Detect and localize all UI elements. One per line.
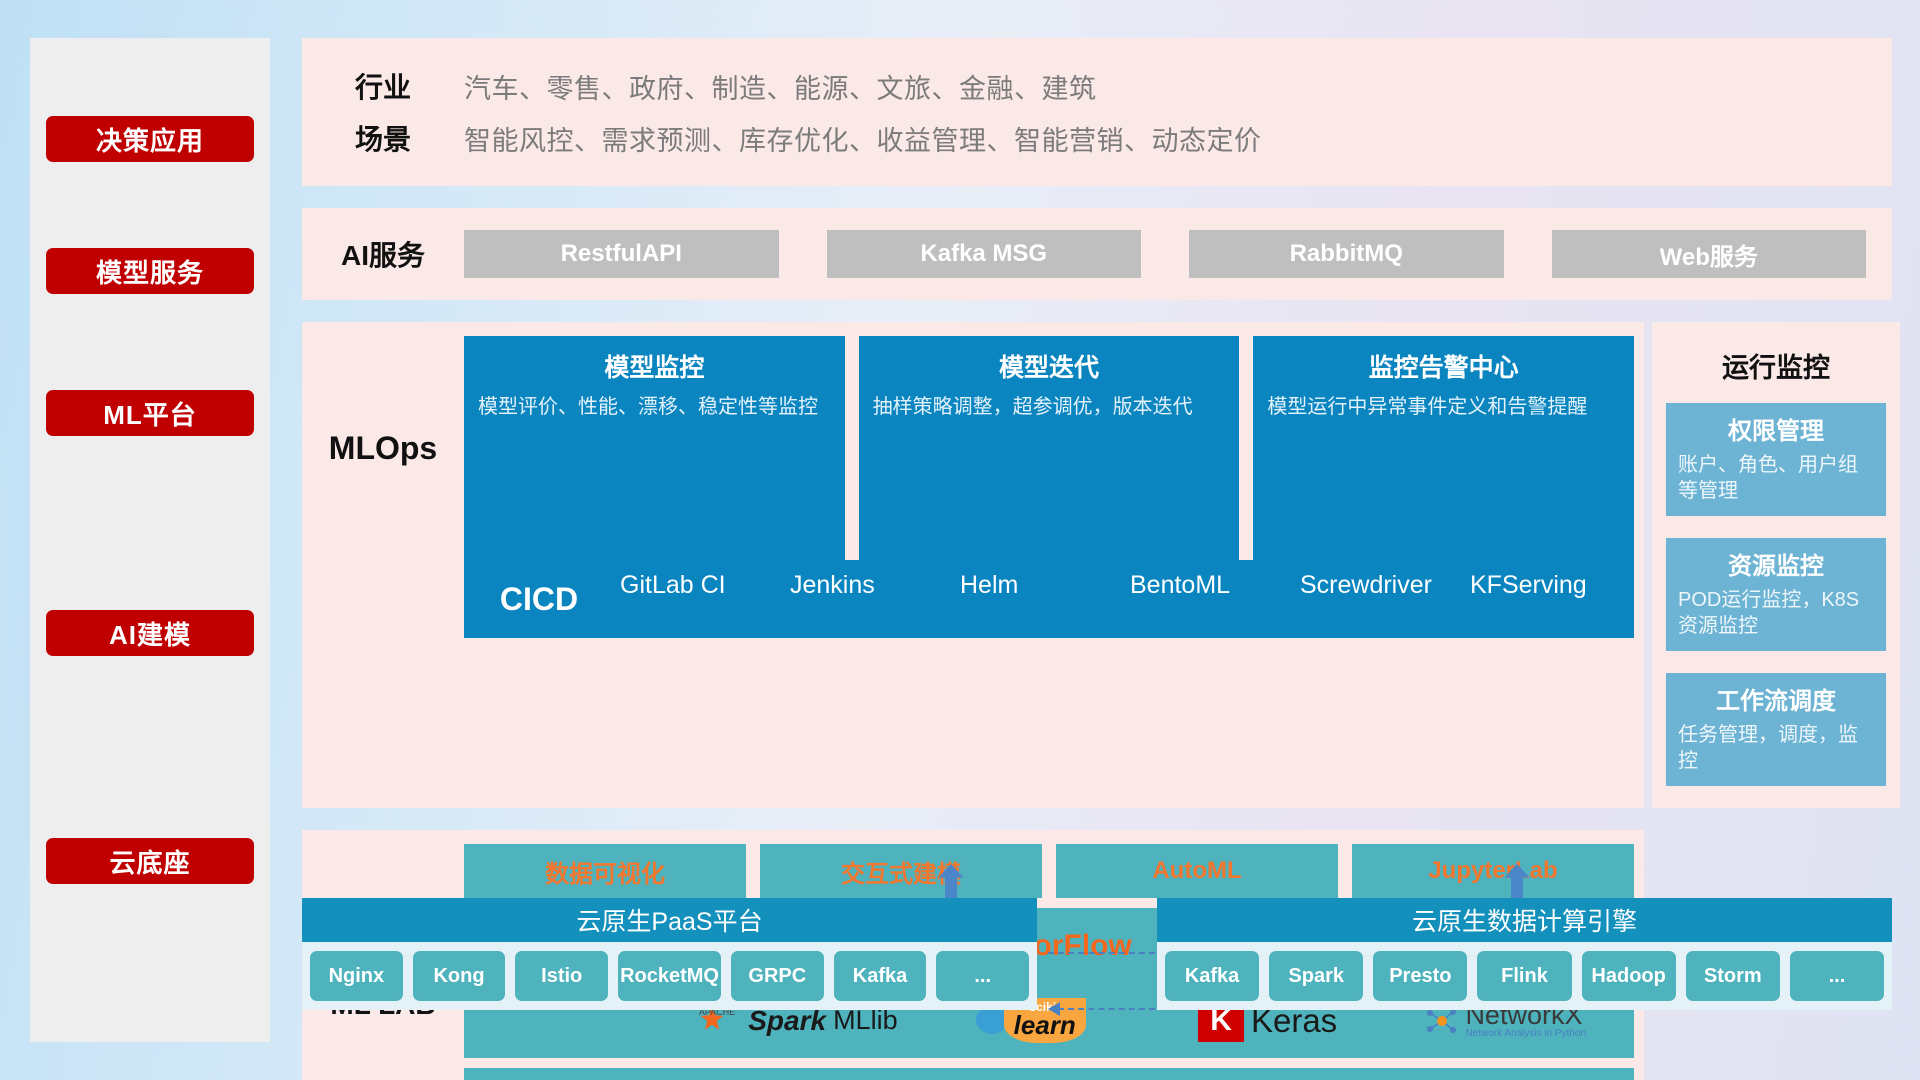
card-title: 资源监控 <box>1678 546 1874 581</box>
monitor-card-workflow[interactable]: 工作流调度 任务管理，调度，监控 <box>1666 673 1886 786</box>
paas-chip-kafka[interactable]: Kafka <box>834 951 927 1001</box>
paas-chip-more[interactable]: ... <box>936 951 1029 1001</box>
rail-chip-label: ML平台 <box>103 395 197 432</box>
mlops-section: MLOps 模型监控 模型评价、性能、漂移、稳定性等监控 模型迭代 抽样策略调整… <box>302 322 1644 808</box>
industry-key: 行业 <box>302 66 464 106</box>
scenario-key: 场景 <box>302 118 464 158</box>
engine-chip-spark[interactable]: Spark <box>1269 951 1363 1001</box>
paas-chip-nginx[interactable]: Nginx <box>310 951 403 1001</box>
rail-chip-ml-platform[interactable]: ML平台 <box>46 390 254 436</box>
engine-chip-flink[interactable]: Flink <box>1477 951 1571 1001</box>
ai-service-key: AI服务 <box>302 234 464 274</box>
cicd-item-kfserving[interactable]: KFServing <box>1464 572 1634 599</box>
ai-service-button-rabbitmq[interactable]: RabbitMQ <box>1189 230 1504 278</box>
card-title: 模型监控 <box>478 348 831 384</box>
rail-chip-label: AI建模 <box>109 615 191 652</box>
cicd-row: CICD GitLab CI Jenkins Helm BentoML Scre… <box>464 560 1634 638</box>
decision-apps-band: 行业 汽车、零售、政府、制造、能源、文旅、金融、建筑 场景 智能风控、需求预测、… <box>302 38 1892 186</box>
up-arrow-icon-paas <box>934 864 968 898</box>
cicd-item-screwdriver[interactable]: Screwdriver <box>1294 572 1464 599</box>
card-desc: 模型评价、性能、漂移、稳定性等监控 <box>478 394 831 420</box>
paas-chip-istio[interactable]: Istio <box>515 951 608 1001</box>
scenario-value: 智能风控、需求预测、库存优化、收益管理、智能营销、动态定价 <box>464 119 1262 158</box>
rail-chip-decision-apps[interactable]: 决策应用 <box>46 116 254 162</box>
engine-chip-more[interactable]: ... <box>1790 951 1884 1001</box>
cloud-base-zone: 云原生PaaS平台 Nginx Kong Istio RocketMQ GRPC… <box>302 870 1892 1040</box>
cloud-native-paas-box: 云原生PaaS平台 Nginx Kong Istio RocketMQ GRPC… <box>302 898 1037 1010</box>
stack-layer-rail: 决策应用 模型服务 ML平台 AI建模 云底座 <box>30 38 270 1042</box>
ai-service-button-kafka-msg[interactable]: Kafka MSG <box>827 230 1142 278</box>
mlops-cards-row: MLOps 模型监控 模型评价、性能、漂移、稳定性等监控 模型迭代 抽样策略调整… <box>302 322 1644 560</box>
rail-chip-label: 决策应用 <box>96 121 204 158</box>
cloud-native-paas-title: 云原生PaaS平台 <box>302 898 1037 942</box>
card-desc: 抽样策略调整，超参调优，版本迭代 <box>873 394 1226 420</box>
runtime-monitor-column: 运行监控 权限管理 账户、角色、用户组等管理 资源监控 POD运行监控，K8S资… <box>1652 322 1900 808</box>
arrowhead-left-icon <box>1048 1002 1060 1016</box>
monitor-card-permission[interactable]: 权限管理 账户、角色、用户组等管理 <box>1666 403 1886 516</box>
card-desc: 模型运行中异常事件定义和告警提醒 <box>1267 394 1620 420</box>
paas-chip-kong[interactable]: Kong <box>413 951 506 1001</box>
mlops-key: MLOps <box>302 336 464 560</box>
card-desc: POD运行监控，K8S资源监控 <box>1678 587 1874 639</box>
rail-chip-label: 模型服务 <box>96 253 204 290</box>
ai-service-buttons: RestfulAPI Kafka MSG RabbitMQ Web服务 <box>464 230 1892 278</box>
engine-chip-storm[interactable]: Storm <box>1686 951 1780 1001</box>
rail-chip-label: 云底座 <box>109 843 190 880</box>
card-title: 工作流调度 <box>1678 681 1874 716</box>
runtime-monitor-title: 运行监控 <box>1666 346 1886 385</box>
cicd-item-bentoml[interactable]: BentoML <box>1124 572 1294 599</box>
cloud-native-compute-engine-box: 云原生数据计算引擎 Kafka Spark Presto Flink Hadoo… <box>1157 898 1892 1010</box>
paas-chip-grpc[interactable]: GRPC <box>731 951 824 1001</box>
ai-service-button-restfulapi[interactable]: RestfulAPI <box>464 230 779 278</box>
rail-chip-ai-modeling[interactable]: AI建模 <box>46 610 254 656</box>
mlops-card-model-monitoring[interactable]: 模型监控 模型评价、性能、漂移、稳定性等监控 <box>464 336 845 560</box>
rail-chip-cloud-base[interactable]: 云底座 <box>46 838 254 884</box>
cicd-item-gitlab-ci[interactable]: GitLab CI <box>614 572 784 599</box>
ml-platform-band: MLOps 模型监控 模型评价、性能、漂移、稳定性等监控 模型迭代 抽样策略调整… <box>302 322 1892 808</box>
monitor-card-resource[interactable]: 资源监控 POD运行监控，K8S资源监控 <box>1666 538 1886 651</box>
engine-chip-hadoop[interactable]: Hadoop <box>1582 951 1676 1001</box>
card-title: 监控告警中心 <box>1267 348 1620 384</box>
card-title: 权限管理 <box>1678 411 1874 446</box>
ai-service-button-web-service[interactable]: Web服务 <box>1552 230 1867 278</box>
card-desc: 账户、角色、用户组等管理 <box>1678 452 1874 504</box>
engine-chip-presto[interactable]: Presto <box>1373 951 1467 1001</box>
cicd-item-helm[interactable]: Helm <box>954 572 1124 599</box>
engine-chip-kafka[interactable]: Kafka <box>1165 951 1259 1001</box>
dataset-row: 数据集 连接 质量监测 管理 定义 处理 加载 <box>464 1068 1634 1080</box>
industry-value: 汽车、零售、政府、制造、能源、文旅、金融、建筑 <box>464 67 1097 106</box>
up-arrow-icon-engine <box>1500 864 1534 898</box>
industry-row: 行业 汽车、零售、政府、制造、能源、文旅、金融、建筑 <box>302 60 1892 112</box>
ai-service-band: AI服务 RestfulAPI Kafka MSG RabbitMQ Web服务 <box>302 208 1892 300</box>
cicd-item-jenkins[interactable]: Jenkins <box>784 572 954 599</box>
cloud-native-compute-engine-title: 云原生数据计算引擎 <box>1157 898 1892 942</box>
card-title: 模型迭代 <box>873 348 1226 384</box>
cicd-title: CICD <box>464 581 614 618</box>
scenario-row: 场景 智能风控、需求预测、库存优化、收益管理、智能营销、动态定价 <box>302 112 1892 164</box>
mlops-card-alert-center[interactable]: 监控告警中心 模型运行中异常事件定义和告警提醒 <box>1253 336 1634 560</box>
mlops-card-model-iteration[interactable]: 模型迭代 抽样策略调整，超参调优，版本迭代 <box>859 336 1240 560</box>
rail-chip-model-service[interactable]: 模型服务 <box>46 248 254 294</box>
card-desc: 任务管理，调度，监控 <box>1678 722 1874 774</box>
paas-chip-rocketmq[interactable]: RocketMQ <box>618 951 721 1001</box>
